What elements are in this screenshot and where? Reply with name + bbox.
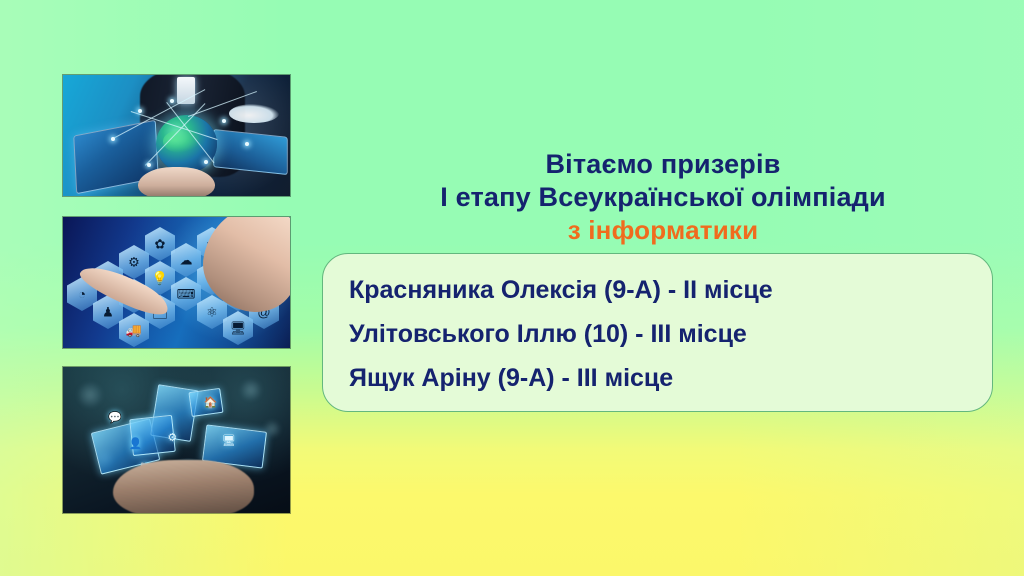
bokeh-light	[77, 382, 103, 408]
cloud-icon: ☁	[180, 254, 193, 267]
truck-icon: 🚚	[126, 324, 142, 337]
flower-icon: ✿	[155, 238, 166, 251]
network-node	[111, 137, 115, 141]
heading-line-2: І етапу Всеукраїнської олімпіади	[326, 181, 1000, 214]
chat-icon: 💬	[108, 411, 122, 424]
monitor-icon: 🖥	[230, 322, 247, 335]
bokeh-light	[240, 379, 262, 401]
heading-line-3-subject: з інформатики	[326, 214, 1000, 246]
hex-tile: ☁	[171, 243, 201, 277]
winner-row: Улітовського Іллю (10) - ІІІ місце	[349, 312, 966, 356]
hex-tile: ⌨	[171, 277, 201, 311]
lightbulb-icon: 💡	[152, 272, 168, 285]
hand-shape	[138, 167, 215, 197]
hex-tile: ✿	[145, 227, 175, 261]
pie-chart-icon: ◔	[78, 288, 86, 301]
network-node	[245, 142, 249, 146]
atom-icon: ⚛	[206, 306, 218, 319]
keyboard-icon: ⌨	[177, 288, 196, 301]
gear-icon: ⚙	[128, 256, 140, 269]
gear-icon: ⚙	[167, 431, 177, 444]
person-icon: ♟	[102, 306, 114, 319]
network-node	[138, 109, 142, 113]
user-icon: 👤	[129, 437, 143, 450]
cloud-icon	[229, 104, 279, 123]
hex-tile: ⚙	[119, 245, 149, 279]
network-node	[222, 119, 226, 123]
winner-row: Красняника Олексія (9-А) - ІІ місце	[349, 268, 966, 312]
network-node	[170, 99, 174, 103]
tablet-right	[213, 129, 287, 175]
photo-2-background: ◔ ⚒ ♟ ⚙ ✍ 🚚 ✿ 💡 🗂 ☁ ⌨ ✈ ✂ ⚛ 🧠 🖥 @ 🖧	[63, 217, 290, 348]
hand-shape	[113, 460, 254, 514]
hex-tile: 🖥	[223, 311, 253, 345]
network-node	[204, 160, 208, 164]
photo-1-background	[63, 75, 290, 196]
photo-3-background: 💬 👤 🏠 📷 ⚙ 🖥	[63, 367, 290, 513]
photo-businessman-holding-digital-globe	[62, 74, 291, 197]
photo-hand-with-floating-screens: 💬 👤 🏠 📷 ⚙ 🖥	[62, 366, 291, 514]
slide-heading: Вітаємо призерів І етапу Всеукраїнської …	[326, 148, 1000, 246]
heading-line-1: Вітаємо призерів	[326, 148, 1000, 181]
monitor-icon: 🖥	[222, 434, 236, 447]
winner-row: Ящук Аріну (9-А) - ІІІ місце	[349, 356, 966, 400]
photo-hexagon-technology-icons: ◔ ⚒ ♟ ⚙ ✍ 🚚 ✿ 💡 🗂 ☁ ⌨ ✈ ✂ ⚛ 🧠 🖥 @ 🖧	[62, 216, 291, 349]
home-icon: 🏠	[204, 396, 218, 409]
winners-list-box: Красняника Олексія (9-А) - ІІ місце Уліт…	[322, 253, 993, 412]
presentation-slide: ◔ ⚒ ♟ ⚙ ✍ 🚚 ✿ 💡 🗂 ☁ ⌨ ✈ ✂ ⚛ 🧠 🖥 @ 🖧	[0, 0, 1024, 576]
hex-tile: 🚚	[119, 313, 149, 347]
